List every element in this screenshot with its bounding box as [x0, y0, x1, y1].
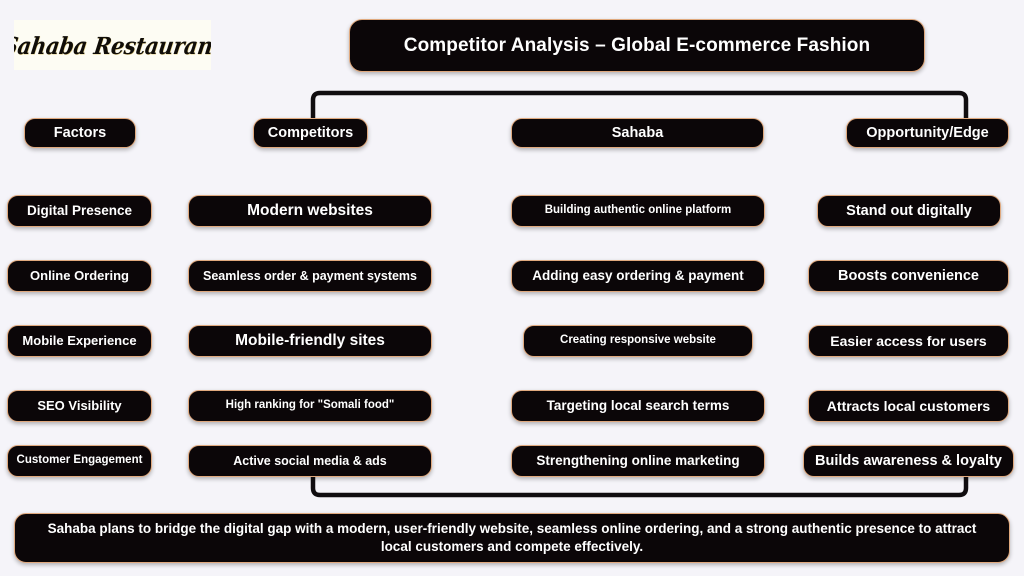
brand-logo: Sahaba Restaurant: [14, 20, 211, 70]
opportunity-cell-mobile-experience: Easier access for users: [808, 325, 1009, 357]
sahaba-cell-online-ordering: Adding easy ordering & payment: [511, 260, 765, 292]
sahaba-cell-digital-presence: Building authentic online platform: [511, 195, 765, 227]
competitor-cell-seo-visibility: High ranking for "Somali food": [188, 390, 432, 422]
factor-cell-online-ordering: Online Ordering: [7, 260, 152, 292]
factor-cell-mobile-experience: Mobile Experience: [7, 325, 152, 357]
opportunity-cell-online-ordering: Boosts convenience: [808, 260, 1009, 292]
column-header-competitors: Competitors: [253, 118, 368, 148]
factor-cell-customer-engagement: Customer Engagement: [7, 445, 152, 477]
competitor-cell-digital-presence: Modern websites: [188, 195, 432, 227]
page-title: Competitor Analysis – Global E-commerce …: [349, 19, 925, 72]
opportunity-cell-digital-presence: Stand out digitally: [817, 195, 1001, 227]
diagram-canvas: Sahaba Restaurant Competitor Analysis – …: [0, 0, 1024, 576]
column-header-sahaba: Sahaba: [511, 118, 764, 148]
sahaba-cell-seo-visibility: Targeting local search terms: [511, 390, 765, 422]
opportunity-cell-seo-visibility: Attracts local customers: [808, 390, 1009, 422]
factor-cell-digital-presence: Digital Presence: [7, 195, 152, 227]
factor-cell-seo-visibility: SEO Visibility: [7, 390, 152, 422]
sahaba-cell-mobile-experience: Creating responsive website: [523, 325, 753, 357]
competitor-cell-customer-engagement: Active social media & ads: [188, 445, 432, 477]
sahaba-cell-customer-engagement: Strengthening online marketing: [511, 445, 765, 477]
brand-logo-text: Sahaba Restaurant: [14, 31, 211, 59]
competitor-cell-mobile-experience: Mobile-friendly sites: [188, 325, 432, 357]
opportunity-cell-customer-engagement: Builds awareness & loyalty: [803, 445, 1014, 477]
column-header-factors: Factors: [24, 118, 136, 148]
competitor-cell-online-ordering: Seamless order & payment systems: [188, 260, 432, 292]
column-header-opportunity: Opportunity/Edge: [846, 118, 1009, 148]
summary-banner: Sahaba plans to bridge the digital gap w…: [14, 513, 1010, 563]
